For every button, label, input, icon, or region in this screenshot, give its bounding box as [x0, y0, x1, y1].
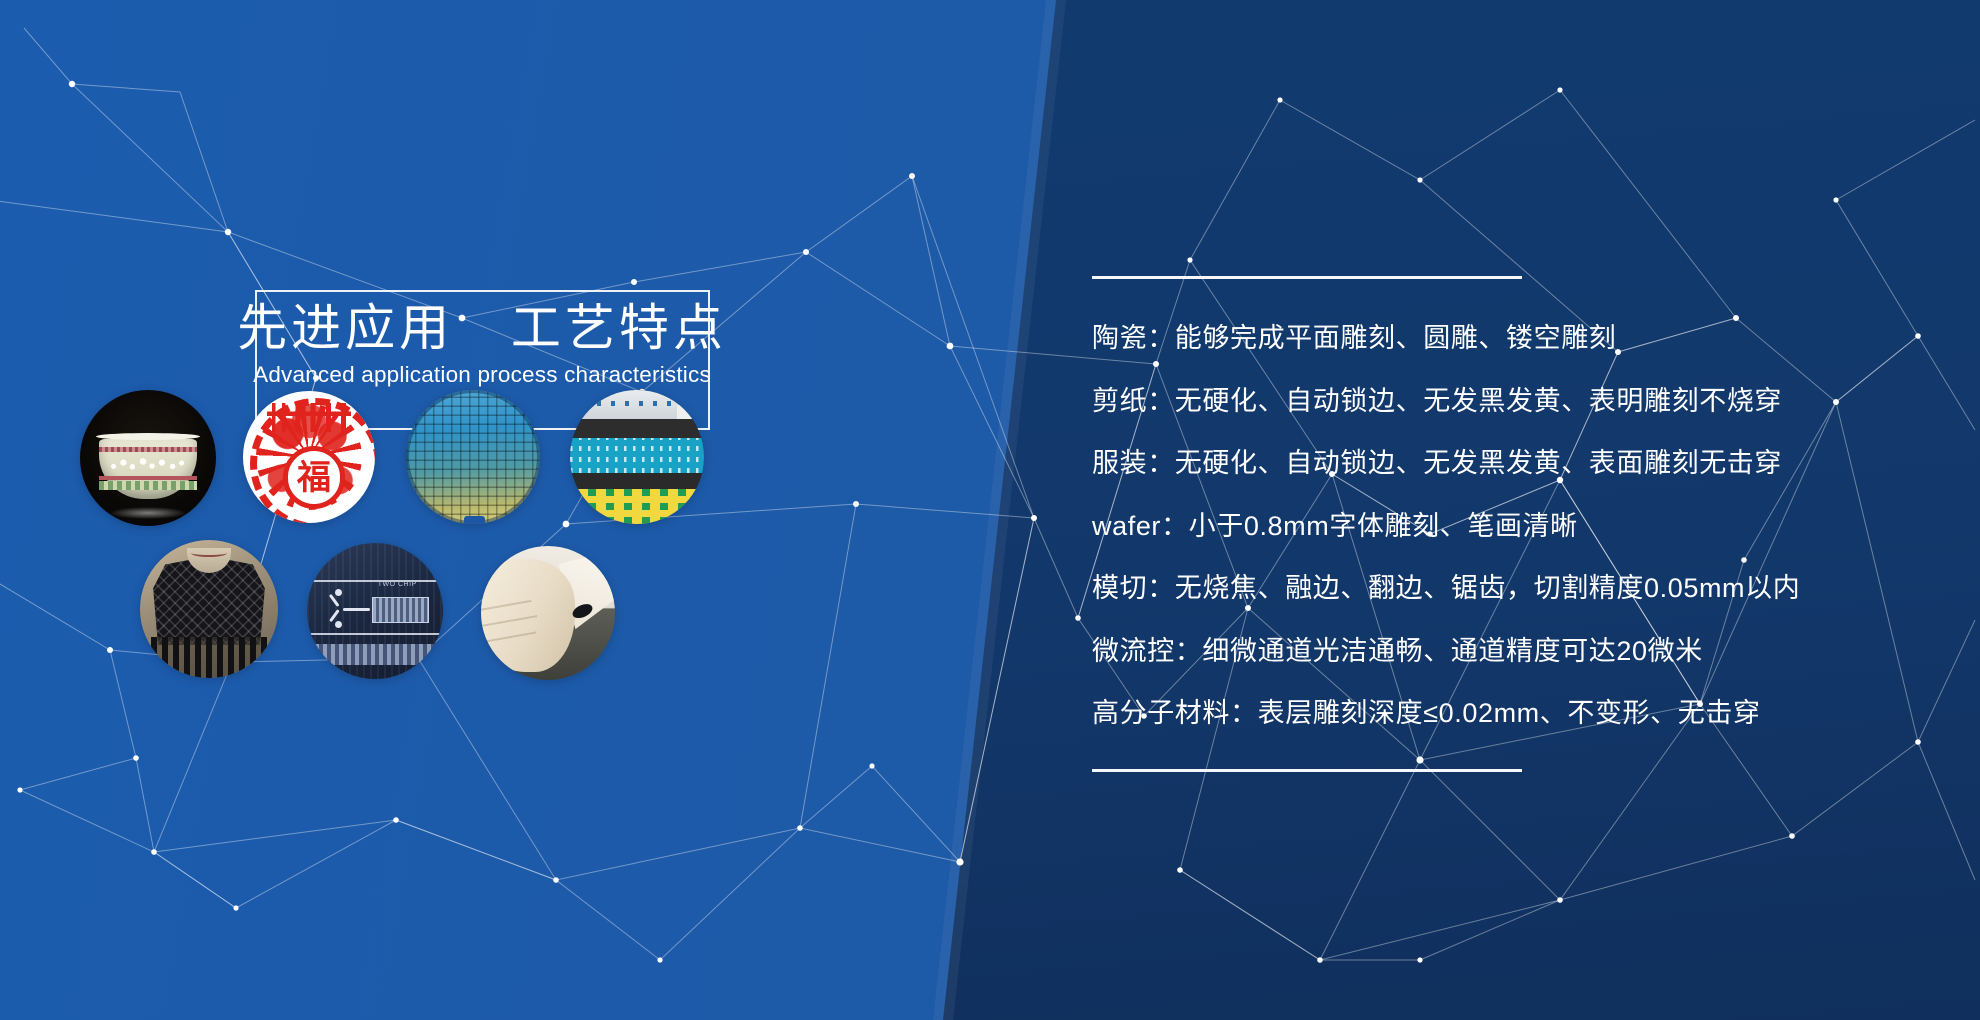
layered-chip-photo	[570, 390, 704, 524]
divider-top	[1092, 276, 1522, 279]
page-subtitle: Advanced application process characteris…	[232, 362, 732, 388]
feature-item-papercut: 剪纸：无硬化、自动锁边、无发黑发黄、表明雕刻不烧穿	[1092, 384, 1928, 419]
ceramic-bowl-photo	[80, 390, 216, 526]
feature-item-microfluidics: 微流控：细微通道光洁通畅、通道精度可达20微米	[1092, 634, 1928, 669]
page-title-block: 先进应用 工艺特点 Advanced application process c…	[232, 300, 732, 388]
papercut-fu-photo: 福	[243, 391, 375, 523]
chip-label: TWO CHIP	[378, 581, 417, 588]
feature-item-apparel: 服装：无硬化、自动锁边、无发黑发黄、表面雕刻无击穿	[1092, 446, 1928, 481]
bowl-shape	[99, 439, 197, 499]
feature-item-diecut: 模切：无烧焦、融边、翻边、锯齿，切割精度0.05mm以内	[1092, 571, 1928, 606]
page-title: 先进应用 工艺特点	[232, 300, 732, 356]
page-title-part-1: 先进应用	[237, 300, 453, 356]
feature-item-polymer: 高分子材料：表层雕刻深度≤0.02mm、不变形、无击穿	[1092, 696, 1928, 731]
polymer-sample-photo	[481, 546, 615, 680]
fu-character: 福	[297, 461, 331, 495]
silicon-wafer-photo	[406, 390, 540, 524]
feature-item-ceramic: 陶瓷：能够完成平面雕刻、圆雕、镂空雕刻	[1092, 321, 1928, 356]
banner-stage: 先进应用 工艺特点 Advanced application process c…	[0, 0, 1980, 1020]
divider-bottom	[1092, 769, 1522, 772]
microfluidic-channel-photo: TWO CHIP	[307, 543, 443, 679]
features-list: 陶瓷：能够完成平面雕刻、圆雕、镂空雕刻 剪纸：无硬化、自动锁边、无发黑发黄、表明…	[1092, 321, 1928, 731]
features-panel: 陶瓷：能够完成平面雕刻、圆雕、镂空雕刻 剪纸：无硬化、自动锁边、无发黑发黄、表明…	[1092, 276, 1928, 772]
garment-mesh-photo	[140, 540, 278, 678]
page-title-part-2: 工艺特点	[511, 300, 727, 356]
feature-item-wafer: wafer：小于0.8mm字体雕刻、笔画清晰	[1092, 509, 1928, 544]
